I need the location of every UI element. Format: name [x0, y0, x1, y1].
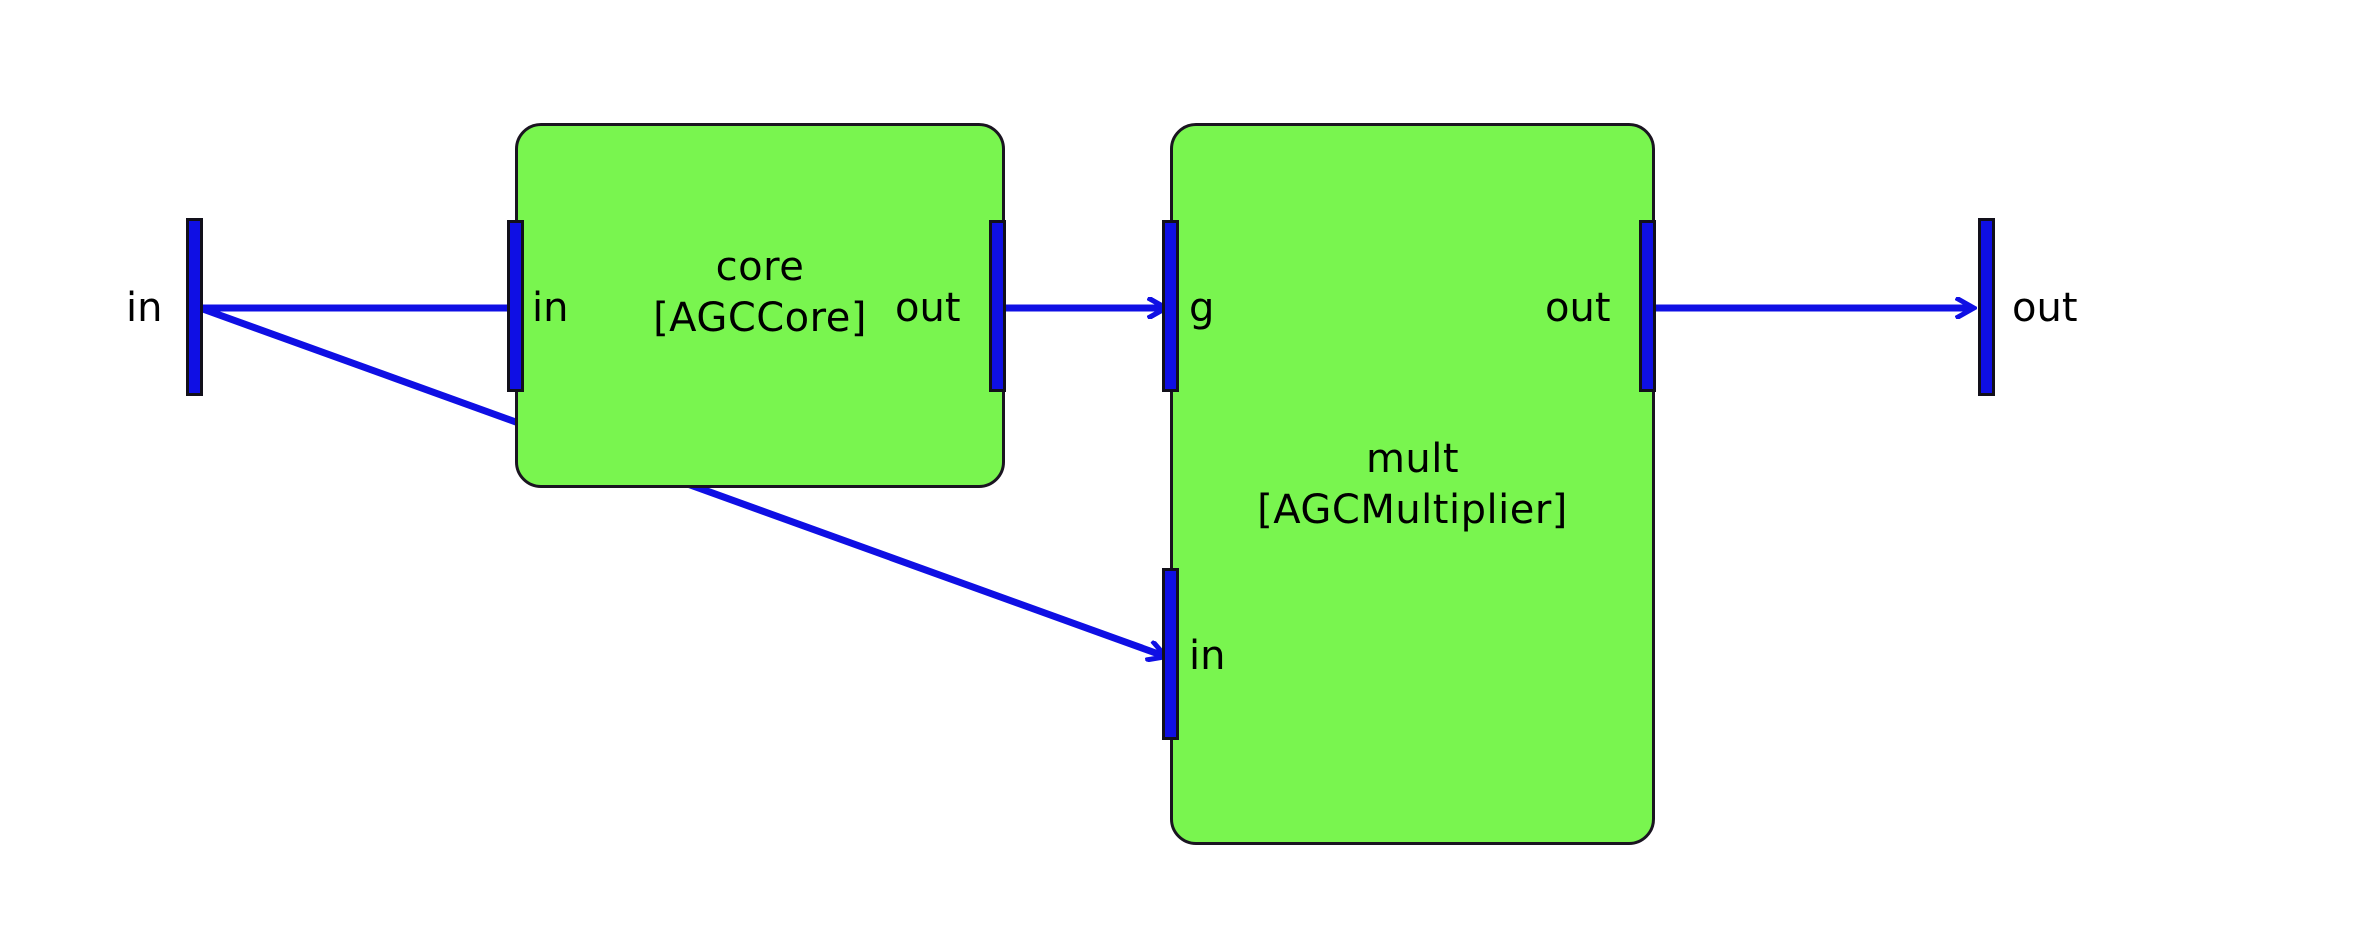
block-mult-type: [AGCMultiplier] — [1173, 485, 1652, 536]
port-mult-out-label: out — [1545, 288, 1611, 328]
block-mult[interactable]: mult [AGCMultiplier] — [1170, 123, 1655, 845]
port-mult-in-label: in — [1189, 636, 1225, 676]
port-core-in[interactable] — [507, 220, 524, 392]
external-port-in[interactable] — [186, 218, 203, 396]
block-diagram-canvas: in out core [AGCCore] in out mult [AGCMu… — [0, 0, 2362, 946]
external-port-in-label: in — [126, 288, 162, 328]
port-core-out-label: out — [895, 288, 961, 328]
port-mult-g-label: g — [1189, 288, 1214, 328]
port-mult-g[interactable] — [1162, 220, 1179, 392]
port-core-out[interactable] — [989, 220, 1006, 392]
block-mult-name: mult — [1173, 434, 1652, 485]
external-port-out-label: out — [2012, 288, 2078, 328]
external-port-out[interactable] — [1978, 218, 1995, 396]
block-mult-labels: mult [AGCMultiplier] — [1173, 434, 1652, 536]
port-mult-out[interactable] — [1639, 220, 1656, 392]
port-core-in-label: in — [532, 288, 568, 328]
port-mult-in[interactable] — [1162, 568, 1179, 740]
